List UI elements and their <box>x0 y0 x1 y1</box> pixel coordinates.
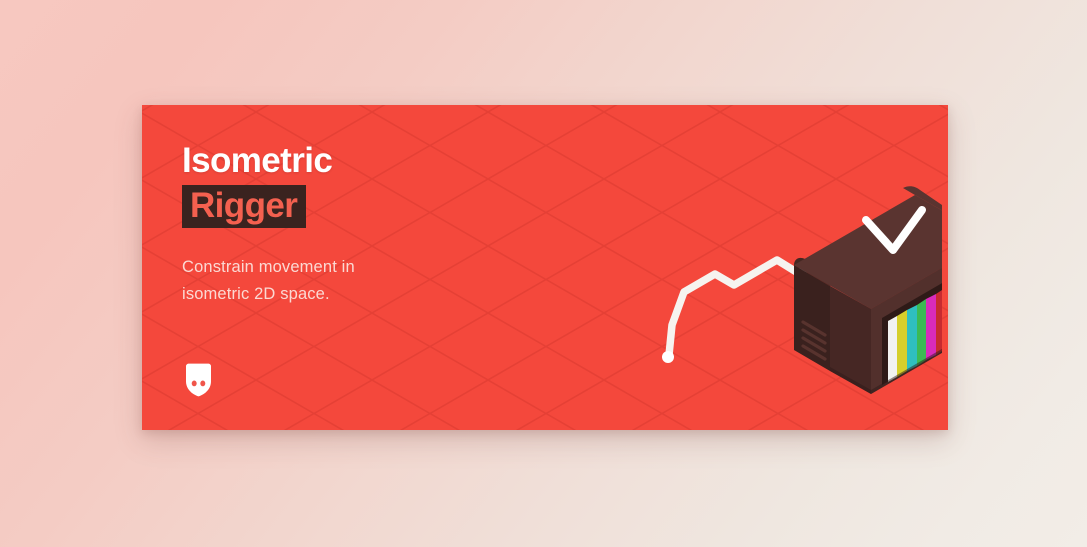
tv-left-corner <box>794 258 838 286</box>
banner-subtitle-line1: Constrain movement in <box>182 258 355 276</box>
tv-front-panel <box>830 286 871 394</box>
banner-subtitle: Constrain movement in isometric 2D space… <box>182 254 562 307</box>
tv-left-face <box>794 265 830 371</box>
tv-screen-colorbars <box>888 283 942 382</box>
tv-top-face <box>794 195 942 309</box>
banner-text-block: Isometric Rigger Constrain movement in i… <box>182 143 562 307</box>
tv-vent-lines <box>803 322 825 359</box>
banner-title-line1: Isometric <box>182 143 562 178</box>
tv-v-antenna-icon <box>866 210 922 250</box>
tv-bottom-edge <box>830 320 942 394</box>
banner-title-highlight: Rigger <box>182 185 306 228</box>
brand-logo-icon <box>183 363 214 397</box>
tv-screen-bezel <box>882 275 942 385</box>
tv-front-face <box>830 239 942 371</box>
tv-screen-face <box>871 239 942 394</box>
power-cable <box>662 260 820 363</box>
promo-banner: Isometric Rigger Constrain movement in i… <box>142 105 948 430</box>
banner-title-line2: Rigger <box>190 188 297 223</box>
isometric-retro-tv-illustration <box>522 160 942 430</box>
tv-top-corner <box>903 186 942 239</box>
page-backdrop: Isometric Rigger Constrain movement in i… <box>0 0 1087 547</box>
banner-subtitle-line2: isometric 2D space. <box>182 285 330 303</box>
